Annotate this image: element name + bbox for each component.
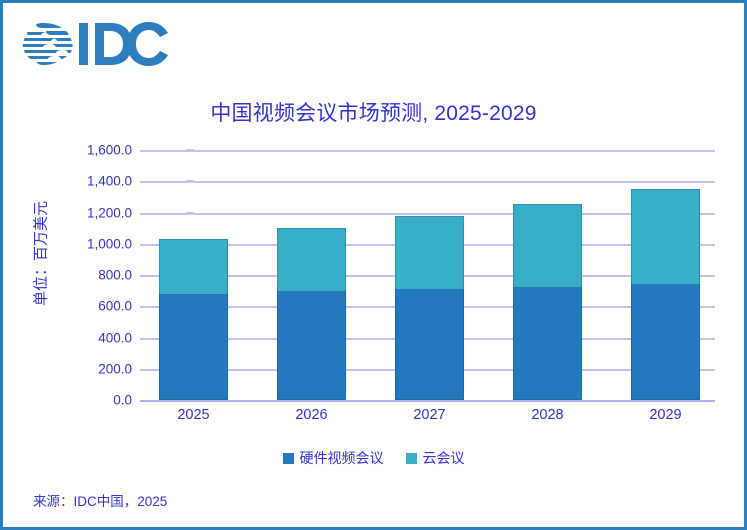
bar-stack[interactable] [513,204,582,400]
gridline-zero [140,400,715,402]
y-tick-label: 400.0 [58,330,132,345]
y-tick-label: 1,200.0 [58,205,132,220]
x-tick-label: 2028 [513,407,582,423]
legend-swatch-cloud [406,453,417,464]
chart-title: 中国视频会议市场预测, 2025-2029 [3,97,744,127]
bar-stack[interactable] [277,228,346,400]
bar-group[interactable] [631,150,700,400]
idc-logo [21,19,171,69]
bar-segment-hardware[interactable] [513,287,582,400]
bar-segment-cloud[interactable] [395,216,464,289]
bar-group[interactable] [513,150,582,400]
legend-swatch-hardware [283,453,294,464]
x-tick-label: 2027 [395,407,464,423]
bar-segment-hardware[interactable] [631,284,700,400]
y-tick-label: 1,000.0 [58,236,132,251]
legend-label-cloud: 云会议 [423,448,465,468]
idc-wordmark [79,22,168,66]
bar-segment-hardware[interactable] [159,294,228,400]
bar-segment-cloud[interactable] [159,239,228,294]
y-tick-label: 800.0 [58,268,132,283]
bar-series-container [140,150,715,400]
legend-item-hardware[interactable]: 硬件视频会议 [283,448,384,468]
bar-segment-hardware[interactable] [395,289,464,400]
bar-stack[interactable] [159,239,228,400]
bar-segment-cloud[interactable] [631,189,700,284]
chart-page: 中国视频会议市场预测, 2025-2029 单位：百万美元 1,600.0 1,… [0,0,747,530]
y-tick-label: 200.0 [58,361,132,376]
legend-label-hardware: 硬件视频会议 [300,448,384,468]
bar-segment-cloud[interactable] [277,228,346,291]
x-axis-tick-labels: 2025 2026 2027 2028 2029 [140,407,715,429]
bar-segment-hardware[interactable] [277,291,346,400]
bar-segment-cloud[interactable] [513,204,582,287]
bar-group[interactable] [159,150,228,400]
legend-item-cloud[interactable]: 云会议 [406,448,465,468]
bar-stack[interactable] [631,189,700,400]
y-tick-label: 1,600.0 [58,143,132,158]
y-axis-title: 单位：百万美元 [30,189,51,319]
bar-stack[interactable] [395,216,464,400]
y-tick-label: 1,400.0 [58,174,132,189]
idc-globe-icon [23,23,73,65]
source-note: 来源：IDC中国，2025 [33,490,167,510]
y-axis-tick-labels: 1,600.0 1,400.0 1,200.0 1,000.0 800.0 60… [58,150,132,400]
bar-group[interactable] [277,150,346,400]
y-tick-label: 0.0 [58,393,132,408]
y-tick-label: 600.0 [58,299,132,314]
chart-legend: 硬件视频会议 云会议 [3,448,744,468]
x-tick-label: 2025 [159,407,228,423]
x-tick-label: 2026 [277,407,346,423]
x-tick-label: 2029 [631,407,700,423]
bar-group[interactable] [395,150,464,400]
